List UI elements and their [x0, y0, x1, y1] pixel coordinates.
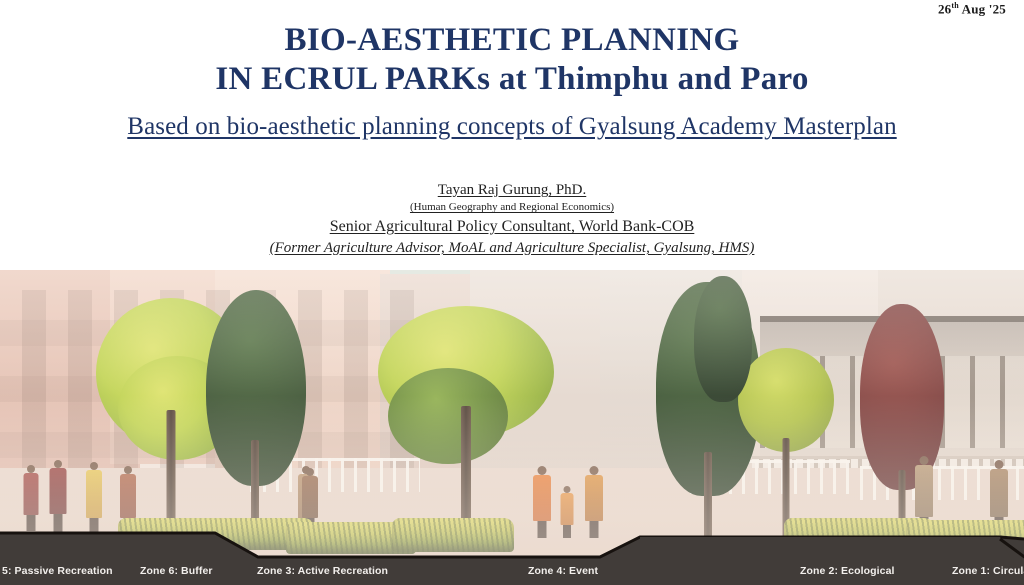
page-subtitle: Based on bio-aesthetic planning concepts… [0, 113, 1024, 141]
page-title-line-1: BIO-AESTHETIC PLANNING [0, 22, 1024, 59]
date-number: 26 [938, 1, 951, 16]
zone-label-1-circulation: Zone 1: Circula [952, 565, 1024, 577]
date-month-year: Aug '25 [959, 1, 1006, 16]
author-block: Tayan Raj Gurung, PhD. (Human Geography … [0, 180, 1024, 258]
slide-date: 26th Aug '25 [938, 1, 1006, 17]
author-former-roles: (Former Agriculture Advisor, MoAL and Ag… [0, 238, 1024, 258]
zone-label-row: 5: Passive Recreation Zone 6: Buffer Zon… [0, 523, 1024, 585]
date-ordinal-suffix: th [951, 1, 959, 10]
streetscape-rendering: 5: Passive Recreation Zone 6: Buffer Zon… [0, 270, 1024, 585]
author-role: Senior Agricultural Policy Consultant, W… [0, 216, 1024, 238]
author-name: Tayan Raj Gurung, PhD. [0, 180, 1024, 200]
zone-label-5-passive-recreation: 5: Passive Recreation [2, 565, 113, 577]
zone-label-3-active-recreation: Zone 3: Active Recreation [257, 565, 388, 577]
zone-label-2-ecological: Zone 2: Ecological [800, 565, 895, 577]
author-field: (Human Geography and Regional Economics) [0, 200, 1024, 216]
title-block: BIO-AESTHETIC PLANNING IN ECRUL PARKs at… [0, 22, 1024, 98]
presentation-slide: 26th Aug '25 BIO-AESTHETIC PLANNING IN E… [0, 0, 1024, 585]
zone-label-6-buffer: Zone 6: Buffer [140, 565, 213, 577]
zone-label-4-event: Zone 4: Event [528, 565, 598, 577]
page-title-line-2: IN ECRUL PARKs at Thimphu and Paro [0, 61, 1024, 98]
